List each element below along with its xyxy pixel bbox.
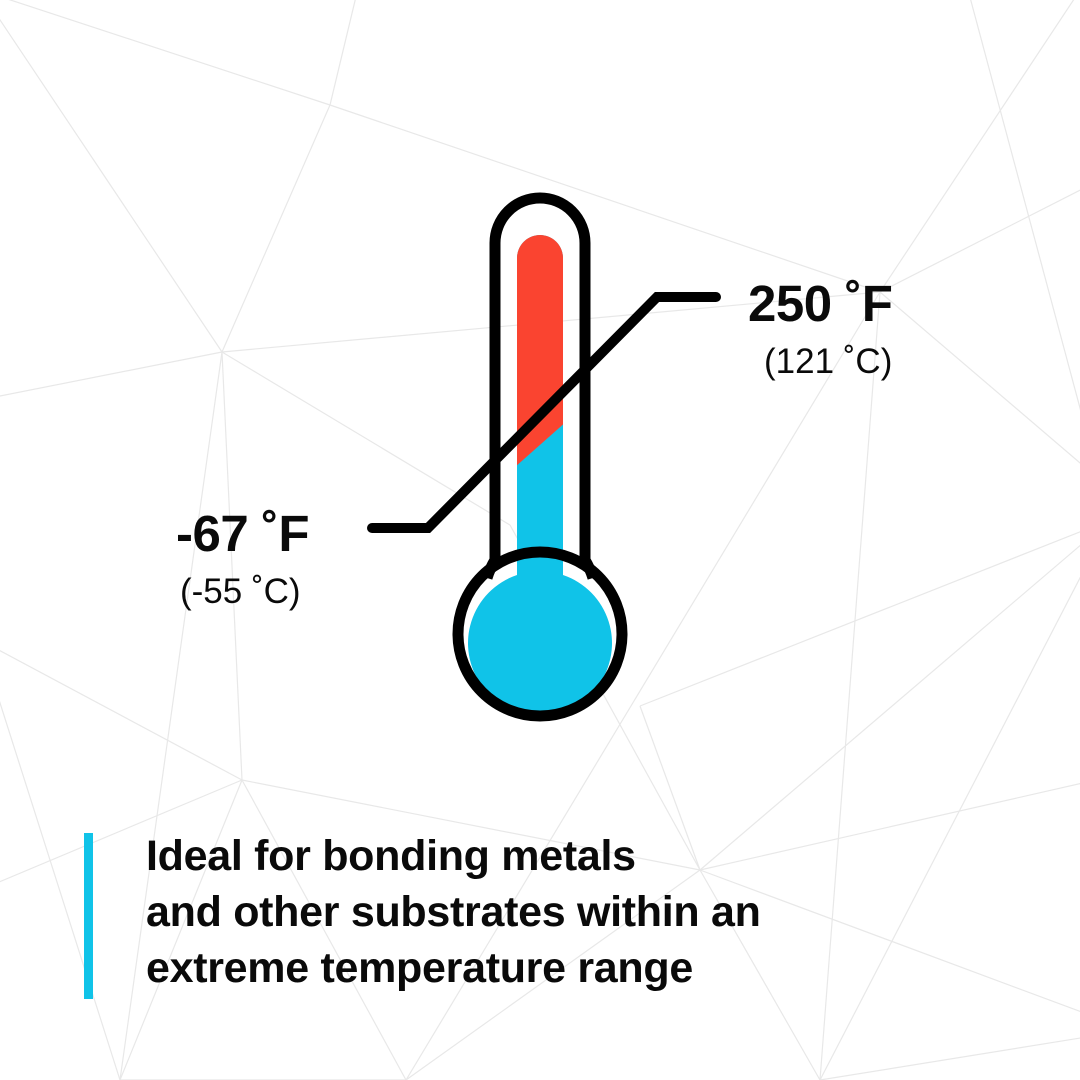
upper-temperature-label: 250 ˚F (121 ˚C) <box>748 278 892 379</box>
headline-line-1: Ideal for bonding metals <box>146 828 936 884</box>
lower-temp-fahrenheit: -67 ˚F <box>176 508 309 559</box>
infographic-canvas: 250 ˚F (121 ˚C) -67 ˚F (-55 ˚C) Ideal fo… <box>0 0 1080 1080</box>
headline: Ideal for bonding metals and other subst… <box>146 828 936 996</box>
headline-line-2: and other substrates within an <box>146 884 936 940</box>
upper-temp-celsius: (121 ˚C) <box>764 344 892 379</box>
lower-temp-celsius: (-55 ˚C) <box>180 574 309 609</box>
lower-temperature-label: -67 ˚F (-55 ˚C) <box>176 508 309 609</box>
headline-line-3: extreme temperature range <box>146 940 936 996</box>
upper-temp-fahrenheit: 250 ˚F <box>748 278 892 329</box>
accent-bar <box>84 833 93 999</box>
